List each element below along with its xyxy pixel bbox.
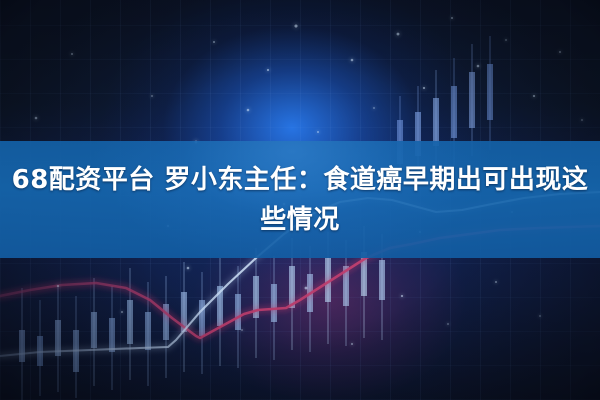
candlestick-body: [469, 72, 475, 128]
candlestick-body: [19, 330, 25, 362]
particle-dot: [447, 323, 449, 325]
particle-dot: [423, 87, 425, 89]
candlestick-body: [379, 260, 385, 300]
particle-dot: [241, 329, 243, 331]
particle-dot: [294, 24, 297, 27]
particle-dot: [35, 117, 38, 120]
particle-dot: [495, 281, 497, 283]
candlestick-body: [433, 98, 439, 146]
particle-dot: [305, 287, 308, 290]
candlestick-body: [145, 312, 151, 350]
particle-dot: [559, 51, 561, 53]
particle-dot: [351, 343, 353, 345]
particle-dot: [373, 107, 375, 109]
candlestick-body: [235, 294, 241, 330]
particle-dot: [213, 41, 215, 43]
particle-dot: [581, 119, 583, 121]
particle-dot: [401, 295, 403, 297]
particle-dot: [267, 69, 269, 71]
candlestick-body: [271, 284, 277, 322]
particle-dot: [477, 65, 480, 68]
thumbnail-canvas: 68配资平台 罗小东主任：食道癌早期出可出现这 些情况: [0, 0, 600, 400]
candlestick-body: [487, 64, 493, 120]
particle-dot: [351, 59, 354, 62]
particle-dot: [451, 17, 453, 19]
particle-dot: [151, 95, 153, 97]
candlestick-body: [451, 86, 457, 138]
particle-dot: [505, 39, 507, 41]
title-line-1: 68配资平台 罗小东主任：食道癌早期出可出现这: [12, 160, 589, 200]
particle-dot: [71, 53, 73, 55]
particle-dot: [533, 95, 535, 97]
candlestick-body: [91, 312, 97, 348]
particle-dot: [539, 315, 541, 317]
particle-dot: [187, 267, 190, 270]
particle-dot: [121, 311, 123, 313]
particle-dot: [247, 109, 250, 112]
banner-title: 68配资平台 罗小东主任：食道癌早期出可出现这 些情况: [0, 141, 600, 258]
title-line-2: 些情况: [260, 200, 340, 240]
particle-dot: [57, 285, 59, 287]
candlestick-body: [127, 300, 133, 344]
particle-dot: [397, 33, 400, 36]
particle-dot: [317, 131, 319, 133]
